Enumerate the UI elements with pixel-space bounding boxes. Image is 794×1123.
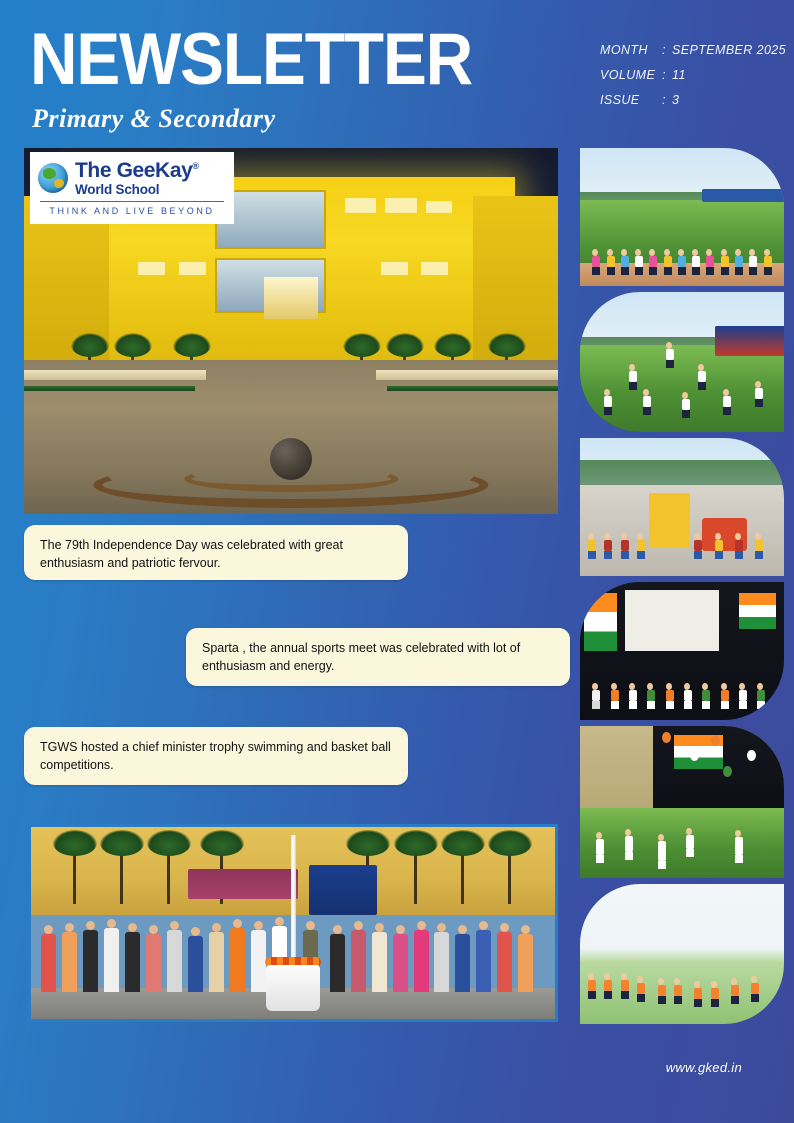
caption-sparta-sports-meet: Sparta , the annual sports meet was cele… xyxy=(186,628,570,686)
photo-house-assembly xyxy=(580,884,784,1024)
caption-independence-day: The 79th Independence Day was celebrated… xyxy=(24,525,408,580)
hero-window xyxy=(381,262,408,275)
photo-stage-screen xyxy=(625,590,719,651)
photo-human-pyramid xyxy=(580,292,784,432)
hero-photo-school-building: The GeeKay® World School THINK AND LIVE … xyxy=(24,148,558,514)
photo-field xyxy=(580,345,784,432)
newsletter-page: NEWSLETTER Primary & Secondary MONTH : S… xyxy=(0,0,794,1123)
hero-entrance xyxy=(264,277,318,319)
photo-lawn xyxy=(580,808,784,878)
photo-mass-drill xyxy=(580,148,784,286)
photo-fire-safety-activity xyxy=(580,438,784,576)
page-subtitle: Primary & Secondary xyxy=(32,104,276,134)
photo-banner xyxy=(702,189,784,201)
meta-value-volume: 11 xyxy=(672,63,686,88)
logo-name-text: The GeeKay xyxy=(75,159,192,182)
hero-planter-wall xyxy=(24,370,206,381)
photo-stop-drop-roll-sign xyxy=(649,493,690,548)
hero-hedge xyxy=(24,386,195,391)
hero-hedge xyxy=(387,386,558,391)
hero-planter-wall xyxy=(376,370,558,381)
hero-window xyxy=(421,262,448,275)
hero-sphere-sculpture xyxy=(270,438,312,480)
logo-tagline: THINK AND LIVE BEYOND xyxy=(38,206,226,216)
photo-balloon xyxy=(723,766,732,777)
globe-icon xyxy=(38,163,68,193)
photo-balloon xyxy=(711,735,720,746)
website-url[interactable]: www.gked.in xyxy=(666,1060,742,1075)
logo-name-line2: World School xyxy=(75,183,199,197)
photo-flag-hoisting-group xyxy=(28,824,558,1022)
hero-plaza xyxy=(24,360,558,514)
hero-window xyxy=(385,198,416,213)
meta-value-month: SEPTEMBER 2025 xyxy=(672,38,786,63)
meta-row-month: MONTH : SEPTEMBER 2025 xyxy=(600,38,786,63)
photo-independence-day-stage xyxy=(580,582,784,720)
masthead: NEWSLETTER Primary & Secondary MONTH : S… xyxy=(0,0,794,145)
hero-window xyxy=(179,262,206,275)
photo-scoreboard xyxy=(715,326,784,357)
photo-flag-dance xyxy=(580,726,784,878)
meta-colon-volume: : xyxy=(662,63,672,88)
photo-overexposed-ground xyxy=(580,884,784,1024)
caption-cm-trophy: TGWS hosted a chief minister trophy swim… xyxy=(24,727,408,785)
meta-row-issue: ISSUE : 3 xyxy=(600,88,786,113)
logo-wordmark: The GeeKay® World School xyxy=(75,160,199,197)
photo-tricolour-drape xyxy=(584,593,617,651)
meta-value-issue: 3 xyxy=(672,88,679,113)
photo-indian-flag xyxy=(739,593,776,629)
hero-window xyxy=(426,201,453,214)
photo-balloon xyxy=(662,732,671,743)
meta-label-volume: VOLUME xyxy=(600,63,662,88)
meta-label-month: MONTH xyxy=(600,38,662,63)
meta-row-volume: VOLUME : 11 xyxy=(600,63,786,88)
photo-treeline xyxy=(580,460,784,488)
logo-divider xyxy=(40,201,224,202)
hero-window xyxy=(138,262,165,275)
logo-name-line1: The GeeKay® xyxy=(75,160,199,181)
hero-window xyxy=(345,198,376,213)
page-title: NEWSLETTER xyxy=(30,24,472,97)
registered-mark: ® xyxy=(192,161,198,171)
logo-primary-row: The GeeKay® World School xyxy=(38,160,226,197)
meta-colon-issue: : xyxy=(662,88,672,113)
issue-meta: MONTH : SEPTEMBER 2025 VOLUME : 11 ISSUE… xyxy=(600,38,786,113)
meta-label-issue: ISSUE xyxy=(600,88,662,113)
meta-colon-month: : xyxy=(662,38,672,63)
school-logo: The GeeKay® World School THINK AND LIVE … xyxy=(30,152,234,224)
group-pole-base xyxy=(266,965,320,1011)
